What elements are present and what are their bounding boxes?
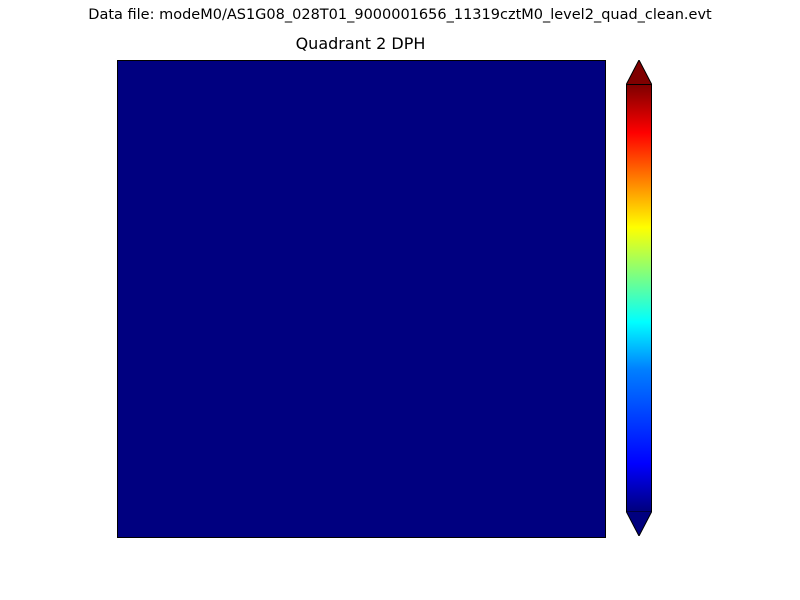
heatmap-axes[interactable]: [117, 60, 606, 538]
colorbar-top-extend-arrow: [626, 60, 652, 85]
colorbar-bottom-extend-arrow: [626, 511, 652, 536]
page-title: Quadrant 2 DPH: [117, 34, 604, 53]
heatmap-image[interactable]: [118, 61, 605, 537]
colorbar-gradient: [626, 84, 652, 512]
matplotlib-figure: Data file: modeM0/AS1G08_028T01_90000016…: [0, 0, 800, 600]
data-file-suptitle: Data file: modeM0/AS1G08_028T01_90000016…: [0, 7, 800, 24]
colorbar[interactable]: [626, 60, 652, 536]
